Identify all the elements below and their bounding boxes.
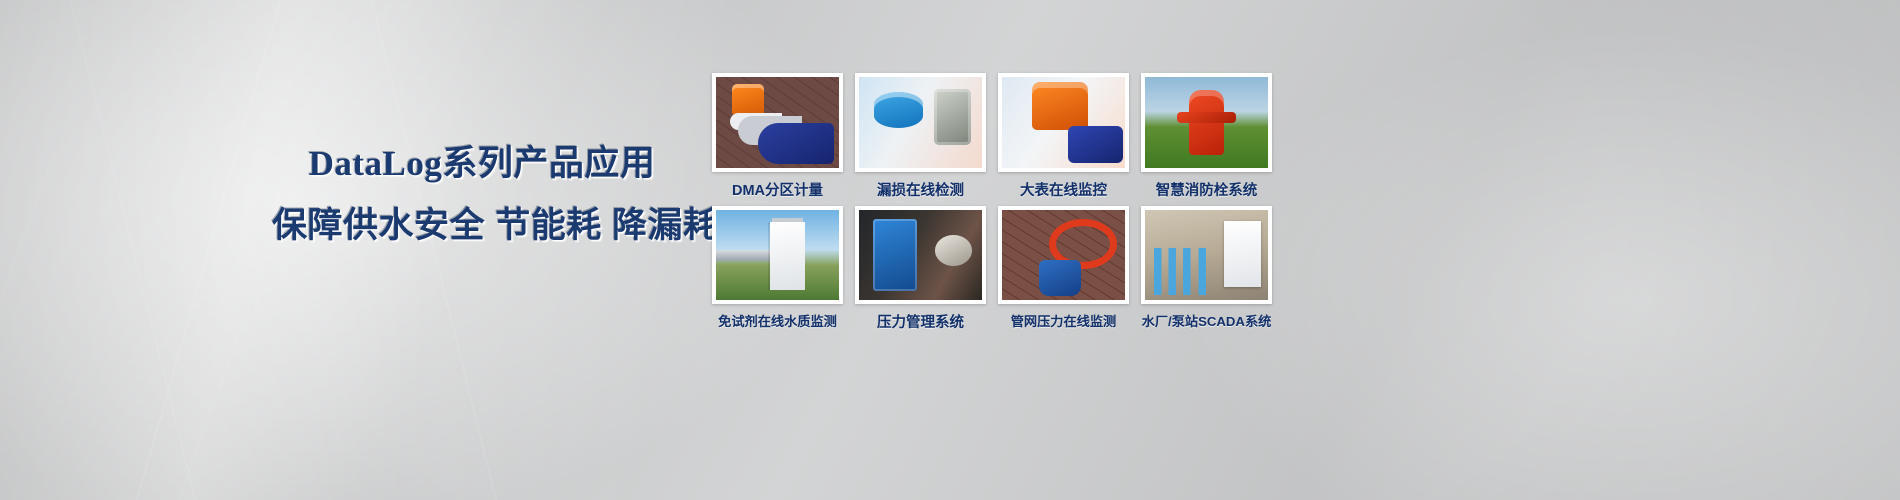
product-caption: 压力管理系统 bbox=[877, 311, 964, 332]
large-meter-monitoring-photo bbox=[1002, 77, 1125, 168]
headline-line-1: DataLog系列产品应用 bbox=[272, 142, 692, 186]
scada-system-photo bbox=[1145, 210, 1268, 300]
product-caption: 智慧消防栓系统 bbox=[1156, 179, 1258, 200]
product-card-water-quality-station[interactable]: 免试剂在线水质监测 bbox=[706, 206, 849, 332]
product-thumbnail[interactable] bbox=[712, 73, 843, 172]
product-card-leak-detection[interactable]: 漏损在线检测 bbox=[849, 73, 992, 200]
product-card-pressure-management[interactable]: 压力管理系统 bbox=[849, 206, 992, 332]
product-thumbnail[interactable] bbox=[855, 73, 986, 172]
product-caption: 大表在线监控 bbox=[1020, 179, 1107, 200]
product-card-scada-system[interactable]: 水厂/泵站SCADA系统 bbox=[1135, 206, 1278, 332]
product-thumbnail[interactable] bbox=[998, 73, 1129, 172]
product-caption: DMA分区计量 bbox=[732, 179, 823, 200]
water-quality-station-photo bbox=[716, 210, 839, 300]
headline-block: DataLog系列产品应用 保障供水安全 节能耗 降漏耗 bbox=[272, 142, 692, 248]
product-thumbnail[interactable] bbox=[1141, 73, 1272, 172]
leak-detection-photo bbox=[859, 77, 982, 168]
promo-banner: DataLog系列产品应用 保障供水安全 节能耗 降漏耗 DMA分区计量 漏损在… bbox=[0, 0, 1900, 500]
headline-line-2: 保障供水安全 节能耗 降漏耗 bbox=[272, 204, 692, 248]
product-card-smart-hydrant[interactable]: 智慧消防栓系统 bbox=[1135, 73, 1278, 200]
background-sheen bbox=[0, 0, 760, 500]
dma-zone-metering-photo bbox=[716, 77, 839, 168]
product-thumbnail[interactable] bbox=[855, 206, 986, 304]
product-thumbnail[interactable] bbox=[712, 206, 843, 304]
product-card-dma-zone-metering[interactable]: DMA分区计量 bbox=[706, 73, 849, 200]
pressure-management-photo bbox=[859, 210, 982, 300]
product-caption: 水厂/泵站SCADA系统 bbox=[1142, 311, 1272, 330]
hexagon-watermark-icon bbox=[30, 0, 512, 500]
network-pressure-photo bbox=[1002, 210, 1125, 300]
product-thumbnail[interactable] bbox=[998, 206, 1129, 304]
product-caption: 管网压力在线监测 bbox=[1011, 311, 1117, 330]
smart-hydrant-photo bbox=[1145, 77, 1268, 168]
hexagon-watermark-icon bbox=[0, 0, 298, 500]
product-grid: DMA分区计量 漏损在线检测 大表在线监控 智慧消防栓系统 免试剂在线 bbox=[706, 73, 1278, 332]
product-card-large-meter-monitoring[interactable]: 大表在线监控 bbox=[992, 73, 1135, 200]
product-caption: 免试剂在线水质监测 bbox=[718, 311, 837, 330]
hexagon-watermark-icon bbox=[0, 150, 307, 500]
product-caption: 漏损在线检测 bbox=[877, 179, 964, 200]
product-card-network-pressure[interactable]: 管网压力在线监测 bbox=[992, 206, 1135, 332]
product-thumbnail[interactable] bbox=[1141, 206, 1272, 304]
